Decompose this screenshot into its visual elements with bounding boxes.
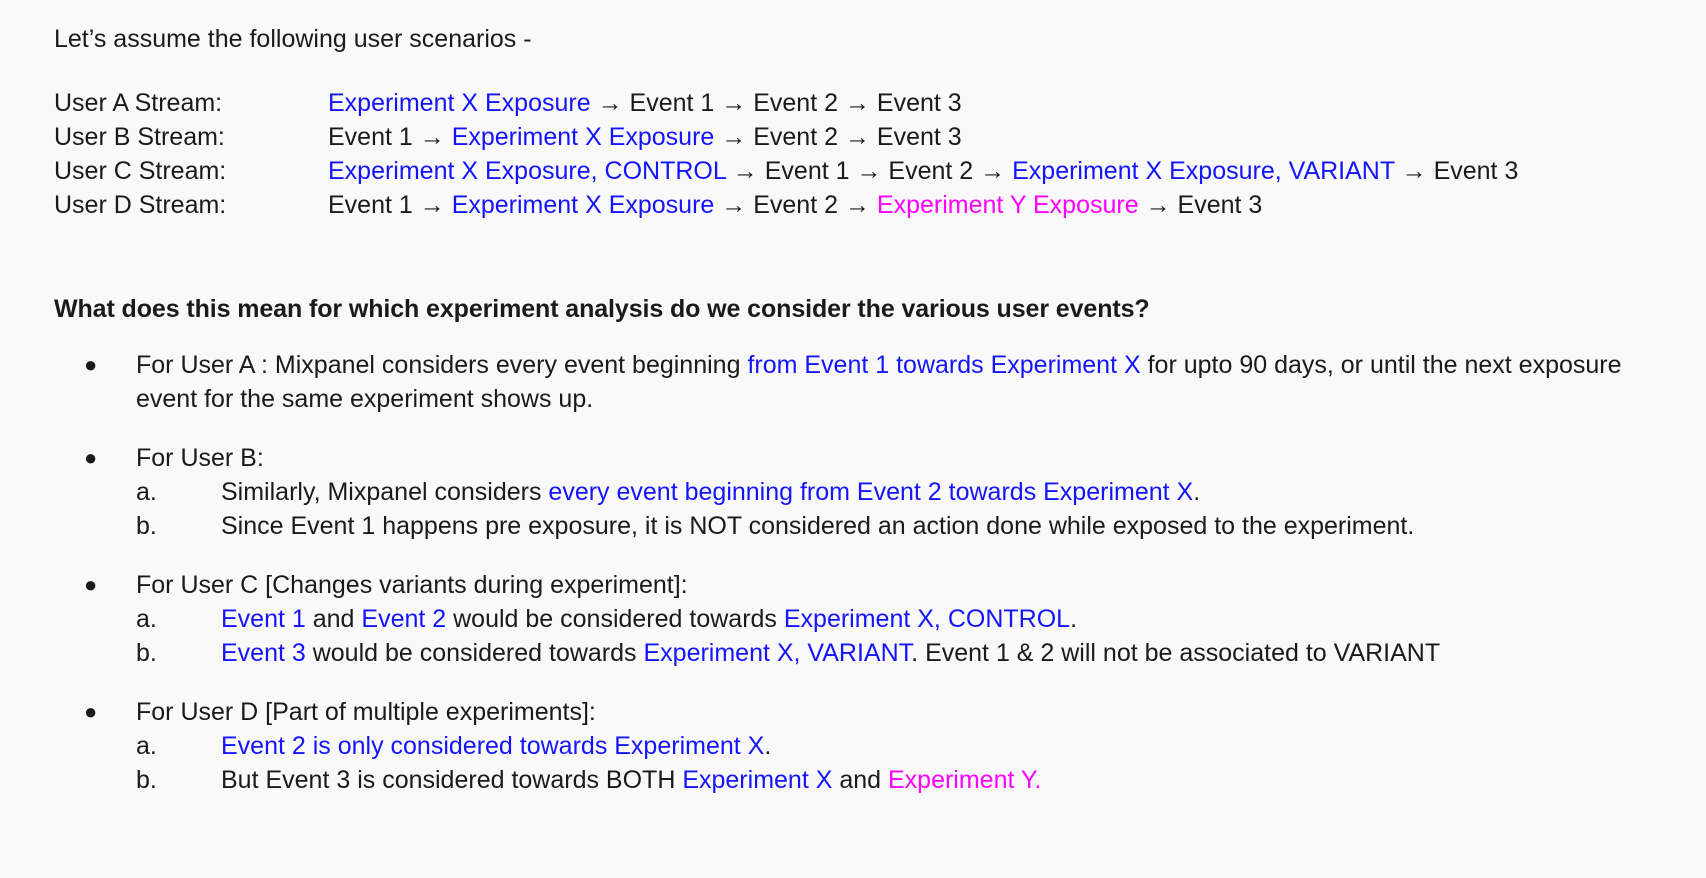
stream-3-segment-8: Event 3 <box>1178 191 1263 219</box>
sub-list-text: Event 1 and Event 2 would be considered … <box>221 602 1674 636</box>
stream-3-segment-6: Experiment Y Exposure <box>877 191 1139 219</box>
sub-list-item: b.But Event 3 is considered towards BOTH… <box>54 763 1674 797</box>
sub-list-marker: b. <box>136 763 221 797</box>
bullet-1-sub-1-segment-0: Since Event 1 happens pre exposure, it i… <box>221 512 1414 540</box>
sub-list-text: Since Event 1 happens pre exposure, it i… <box>221 509 1674 543</box>
stream-2-segment-2: Event 1 <box>765 157 850 185</box>
stream-label: User B Stream: <box>54 120 328 154</box>
stream-flow: Event 1 → Experiment X Exposure → Event … <box>328 120 962 154</box>
sub-list-marker: b. <box>136 509 221 543</box>
stream-flow: Event 1 → Experiment X Exposure → Event … <box>328 188 1262 222</box>
bullet-2-sub-0-segment-3: would be considered towards <box>446 605 784 633</box>
stream-3-segment-3: → <box>714 191 753 219</box>
bullet-group: ●For User B:a.Similarly, Mixpanel consid… <box>54 441 1674 543</box>
stream-2-segment-1: → <box>726 157 765 185</box>
stream-0-segment-3: → <box>714 89 753 117</box>
stream-1-segment-6: Event 3 <box>877 123 962 151</box>
stream-3-segment-5: → <box>838 191 877 219</box>
bullet-3-sub-0-segment-1: . <box>764 732 771 760</box>
stream-1-segment-2: Experiment X Exposure <box>452 123 715 151</box>
stream-3-segment-2: Experiment X Exposure <box>452 191 715 219</box>
stream-3-segment-0: Event 1 <box>328 191 413 219</box>
bullet-3-segment-0: For User D [Part of multiple experiments… <box>136 698 596 726</box>
sub-list: a.Event 2 is only considered towards Exp… <box>54 729 1674 797</box>
section-question-heading: What does this mean for which experiment… <box>54 292 1150 326</box>
bullet-dot-icon: ● <box>54 441 136 475</box>
stream-row: User A Stream:Experiment X Exposure → Ev… <box>54 86 1518 120</box>
stream-label: User A Stream: <box>54 86 328 120</box>
sub-list-item: a.Similarly, Mixpanel considers every ev… <box>54 475 1674 509</box>
stream-flow: Experiment X Exposure, CONTROL → Event 1… <box>328 154 1518 188</box>
sub-list-item: b.Since Event 1 happens pre exposure, it… <box>54 509 1674 543</box>
sub-list-text: Similarly, Mixpanel considers every even… <box>221 475 1674 509</box>
bullet-text: For User B: <box>136 441 1674 475</box>
stream-0-segment-1: → <box>591 89 630 117</box>
sub-list-text: Event 2 is only considered towards Exper… <box>221 729 1674 763</box>
bullet-3-sub-1-segment-2: and <box>832 766 888 794</box>
bullet-group: ●For User A : Mixpanel considers every e… <box>54 348 1674 416</box>
stream-1-segment-5: → <box>838 123 877 151</box>
stream-3-segment-7: → <box>1139 191 1178 219</box>
bullet-item: ●For User A : Mixpanel considers every e… <box>54 348 1674 416</box>
sub-list-marker: a. <box>136 602 221 636</box>
bullet-text: For User A : Mixpanel considers every ev… <box>136 348 1674 416</box>
bullet-3-sub-0-segment-0: Event 2 is only considered towards Exper… <box>221 732 764 760</box>
bullet-item: ●For User B: <box>54 441 1674 475</box>
bullet-3-sub-1-segment-1: Experiment X <box>682 766 832 794</box>
bullet-1-sub-0-segment-2: . <box>1193 478 1200 506</box>
stream-2-segment-8: Event 3 <box>1434 157 1519 185</box>
bullet-2-sub-0-segment-5: . <box>1070 605 1077 633</box>
bullet-item: ●For User C [Changes variants during exp… <box>54 568 1674 602</box>
bullet-dot-icon: ● <box>54 568 136 602</box>
stream-3-segment-4: Event 2 <box>753 191 838 219</box>
bullet-3-sub-1-segment-0: But Event 3 is considered towards BOTH <box>221 766 682 794</box>
stream-label: User C Stream: <box>54 154 328 188</box>
user-stream-list: User A Stream:Experiment X Exposure → Ev… <box>54 86 1518 222</box>
bullet-group: ●For User C [Changes variants during exp… <box>54 568 1674 670</box>
stream-flow: Experiment X Exposure → Event 1 → Event … <box>328 86 962 120</box>
sub-list-item: b.Event 3 would be considered towards Ex… <box>54 636 1674 670</box>
stream-2-segment-5: → <box>973 157 1012 185</box>
sub-list-item: a.Event 1 and Event 2 would be considere… <box>54 602 1674 636</box>
intro-paragraph: Let’s assume the following user scenario… <box>54 22 532 56</box>
stream-2-segment-0: Experiment X Exposure, CONTROL <box>328 157 726 185</box>
stream-0-segment-6: Event 3 <box>877 89 962 117</box>
sub-list-text: Event 3 would be considered towards Expe… <box>221 636 1674 670</box>
bullet-1-sub-0-segment-0: Similarly, Mixpanel considers <box>221 478 548 506</box>
stream-0-segment-5: → <box>838 89 877 117</box>
sub-list-text: But Event 3 is considered towards BOTH E… <box>221 763 1674 797</box>
stream-0-segment-2: Event 1 <box>630 89 715 117</box>
sub-list-item: a.Event 2 is only considered towards Exp… <box>54 729 1674 763</box>
bullet-text: For User C [Changes variants during expe… <box>136 568 1674 602</box>
stream-row: User B Stream:Event 1 → Experiment X Exp… <box>54 120 1518 154</box>
stream-0-segment-0: Experiment X Exposure <box>328 89 591 117</box>
stream-row: User D Stream:Event 1 → Experiment X Exp… <box>54 188 1518 222</box>
explanation-bullet-list: ●For User A : Mixpanel considers every e… <box>54 348 1674 797</box>
bullet-3-sub-1-segment-3: Experiment Y. <box>888 766 1041 794</box>
bullet-dot-icon: ● <box>54 695 136 729</box>
stream-row: User C Stream:Experiment X Exposure, CON… <box>54 154 1518 188</box>
stream-1-segment-0: Event 1 <box>328 123 413 151</box>
stream-2-segment-3: → <box>850 157 889 185</box>
stream-0-segment-4: Event 2 <box>753 89 838 117</box>
bullet-2-sub-0-segment-4: Experiment X, CONTROL <box>784 605 1070 633</box>
stream-3-segment-1: → <box>413 191 452 219</box>
stream-1-segment-4: Event 2 <box>753 123 838 151</box>
bullet-item: ●For User D [Part of multiple experiment… <box>54 695 1674 729</box>
bullet-2-sub-1-segment-0: Event 3 <box>221 639 306 667</box>
bullet-2-sub-1-segment-1: would be considered towards <box>306 639 644 667</box>
bullet-group: ●For User D [Part of multiple experiment… <box>54 695 1674 797</box>
bullet-2-segment-0: For User C [Changes variants during expe… <box>136 571 688 599</box>
bullet-2-sub-1-segment-3: . Event 1 & 2 will not be associated to … <box>911 639 1440 667</box>
sub-list: a.Event 1 and Event 2 would be considere… <box>54 602 1674 670</box>
document-page: Let’s assume the following user scenario… <box>0 0 1706 878</box>
sub-list-marker: b. <box>136 636 221 670</box>
stream-2-segment-6: Experiment X Exposure, VARIANT <box>1012 157 1395 185</box>
stream-2-segment-4: Event 2 <box>888 157 973 185</box>
stream-1-segment-1: → <box>413 123 452 151</box>
bullet-0-segment-1: from Event 1 towards Experiment X <box>747 351 1140 379</box>
sub-list-marker: a. <box>136 729 221 763</box>
bullet-0-segment-0: For User A : Mixpanel considers every ev… <box>136 351 747 379</box>
bullet-1-segment-0: For User B: <box>136 444 264 472</box>
sub-list-marker: a. <box>136 475 221 509</box>
bullet-2-sub-1-segment-2: Experiment X, VARIANT <box>643 639 911 667</box>
bullet-2-sub-0-segment-2: Event 2 <box>361 605 446 633</box>
sub-list: a.Similarly, Mixpanel considers every ev… <box>54 475 1674 543</box>
stream-label: User D Stream: <box>54 188 328 222</box>
bullet-text: For User D [Part of multiple experiments… <box>136 695 1674 729</box>
bullet-2-sub-0-segment-1: and <box>306 605 362 633</box>
bullet-dot-icon: ● <box>54 348 136 382</box>
stream-1-segment-3: → <box>714 123 753 151</box>
stream-2-segment-7: → <box>1395 157 1434 185</box>
bullet-2-sub-0-segment-0: Event 1 <box>221 605 306 633</box>
bullet-1-sub-0-segment-1: every event beginning from Event 2 towar… <box>548 478 1193 506</box>
